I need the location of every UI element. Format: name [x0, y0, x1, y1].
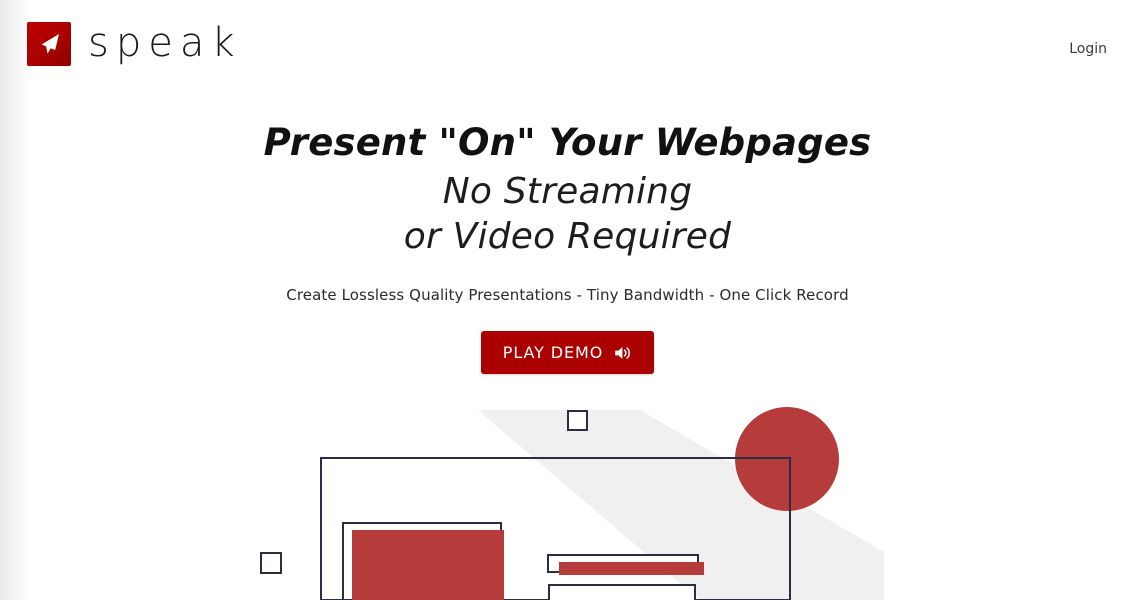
landing-page: speak Login Present "On" Your Webpages N… [0, 0, 1135, 600]
cta-container: PLAY DEMO [0, 331, 1135, 374]
site-header: speak Login [0, 0, 1135, 92]
hero-illustration [0, 392, 1135, 600]
play-demo-button[interactable]: PLAY DEMO [481, 331, 654, 374]
hero-subheadline: Create Lossless Quality Presentations - … [0, 286, 1135, 304]
brand-logo[interactable]: speak [27, 22, 242, 66]
paper-plane-icon [27, 22, 71, 66]
headline-line-2: No Streaming [0, 161, 1135, 215]
red-bar [559, 562, 704, 575]
red-block-large [352, 530, 504, 600]
login-link[interactable]: Login [1069, 41, 1107, 57]
page-title: Present "On" Your Webpages No Streaming … [0, 92, 1135, 259]
speaker-volume-icon [614, 345, 632, 361]
play-demo-label: PLAY DEMO [503, 343, 603, 362]
hero-section: Present "On" Your Webpages No Streaming … [0, 92, 1135, 374]
outline-box-bottom [549, 585, 695, 600]
brand-name: speak [88, 23, 242, 66]
headline-line-3: or Video Required [0, 215, 1135, 260]
headline-line-1: Present "On" Your Webpages [0, 92, 1135, 161]
